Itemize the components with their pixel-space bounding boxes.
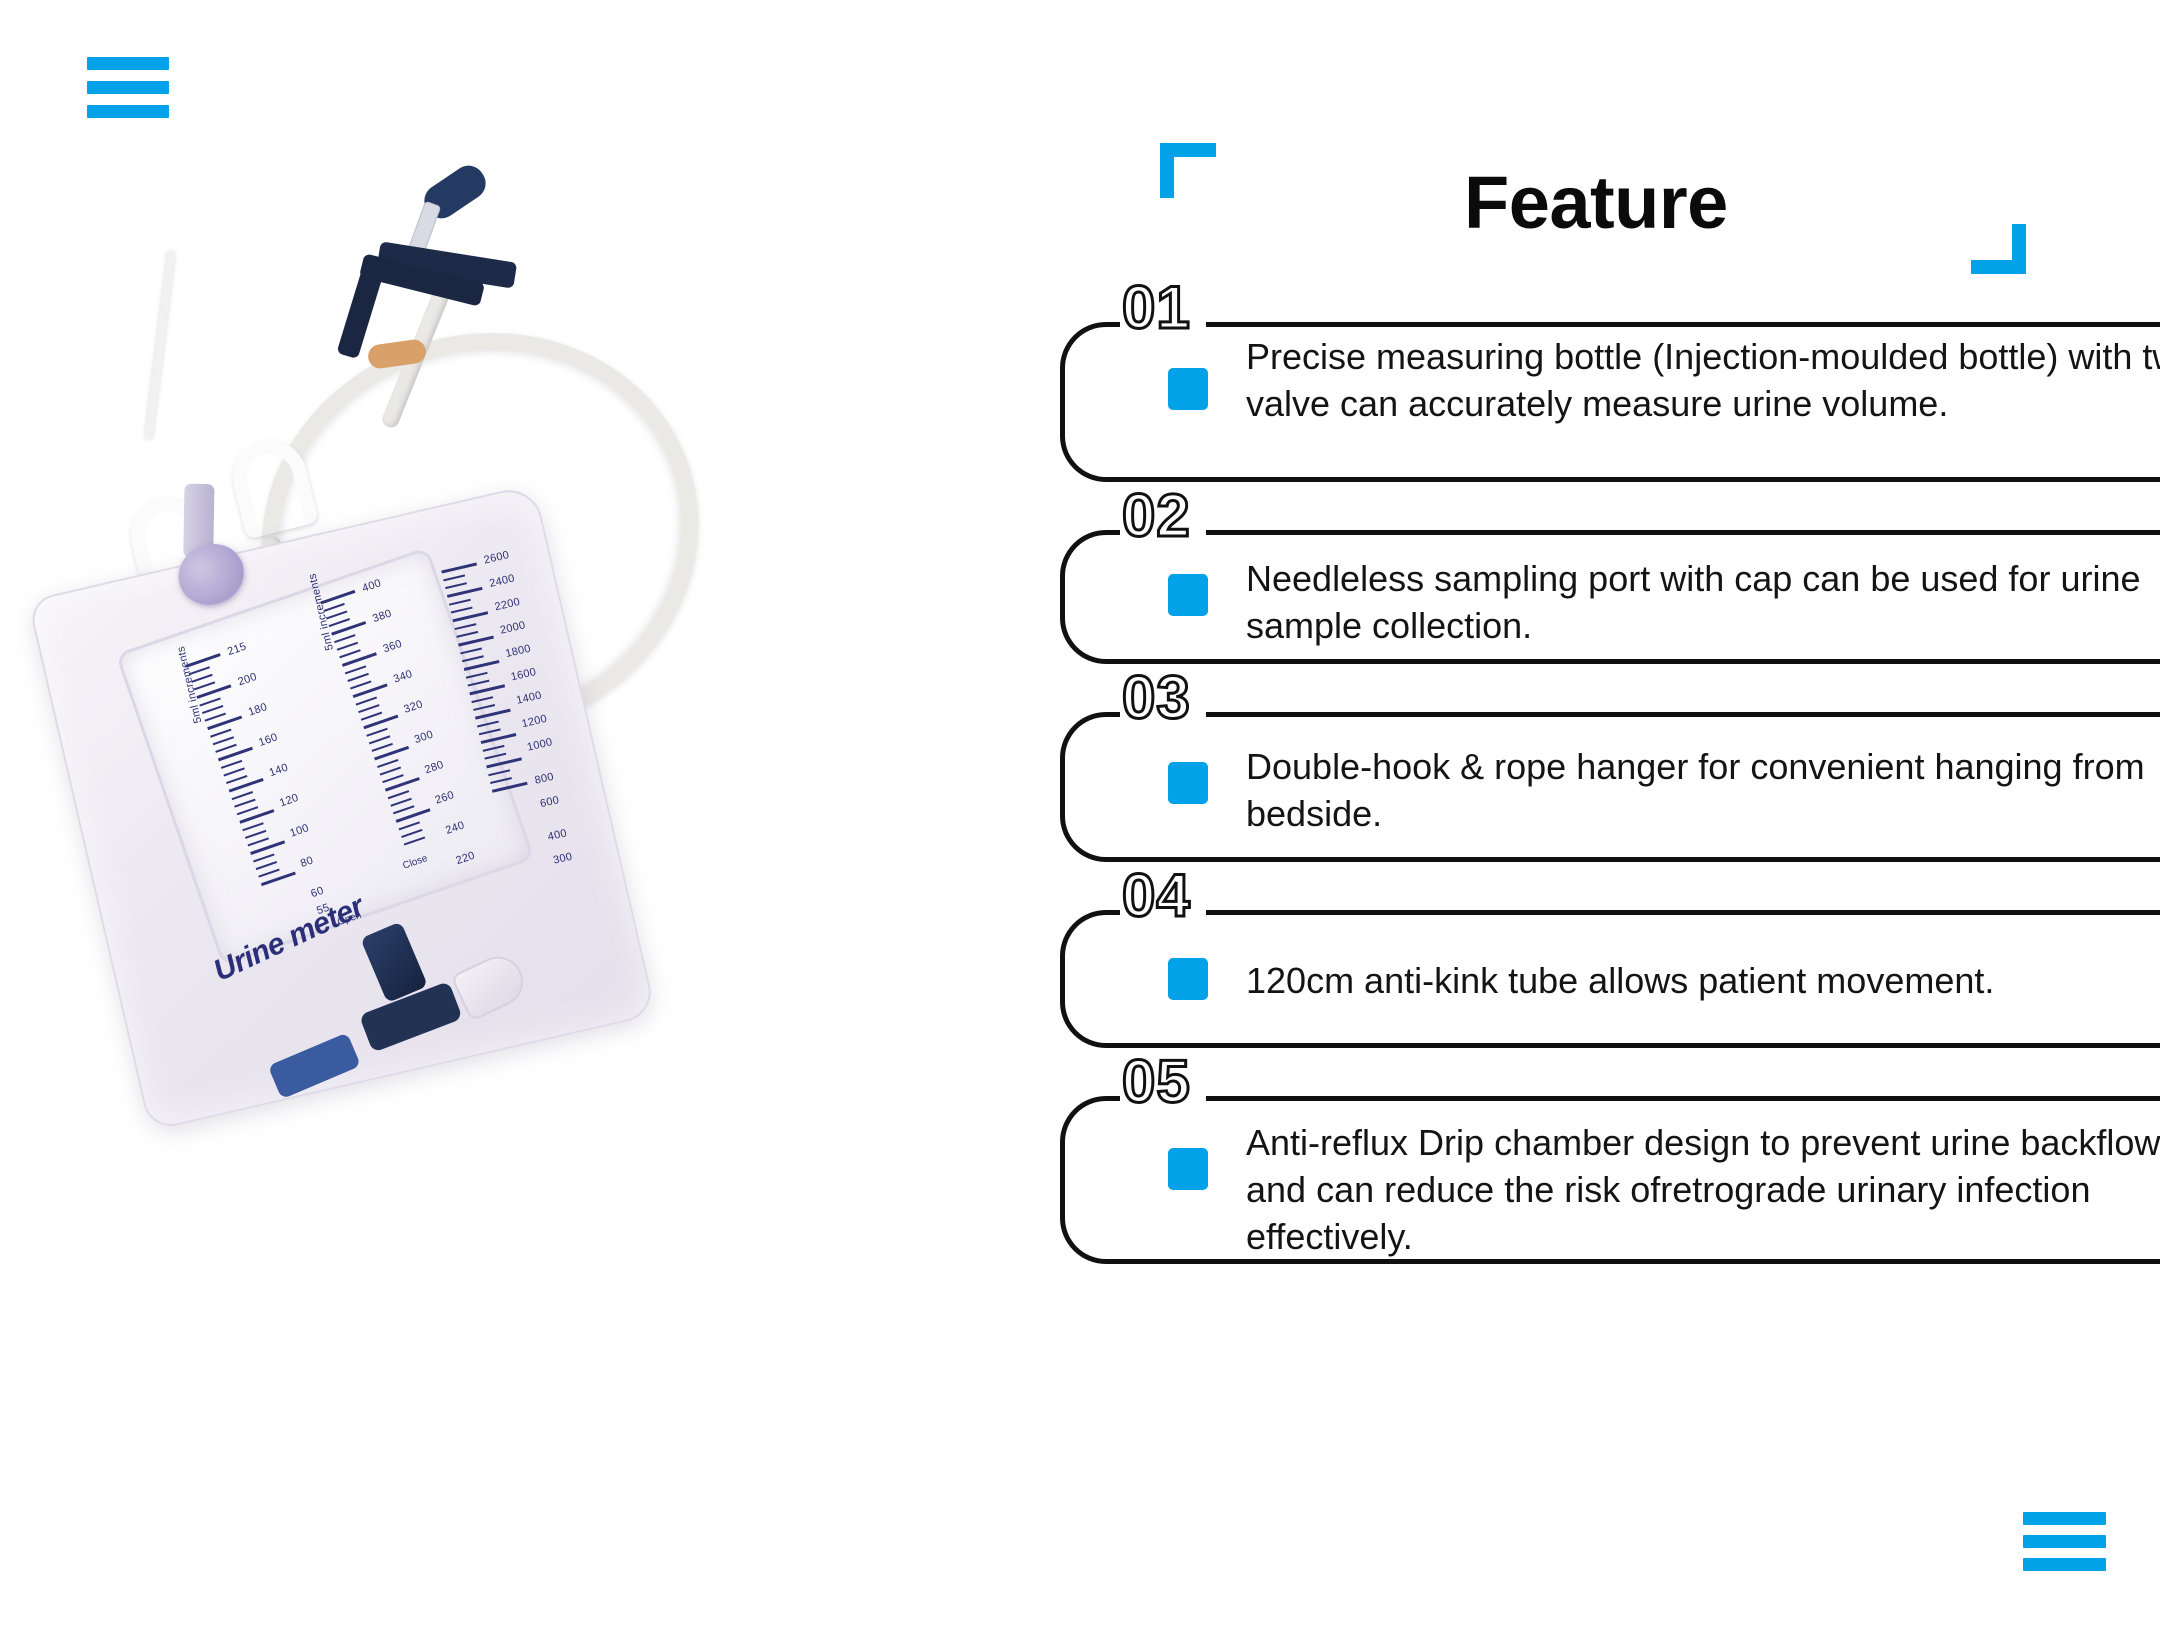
bag-value-800: 800 — [534, 771, 555, 787]
hamburger-bar — [87, 57, 169, 70]
meter-value-280: 280 — [423, 759, 445, 777]
bag-value-600: 600 — [539, 794, 560, 810]
feature-number: 04 — [1122, 866, 1191, 926]
feature-text: Anti-reflux Drip chamber design to preve… — [1246, 1120, 2160, 1260]
feature-number: 05 — [1122, 1052, 1191, 1112]
meter-ticks — [320, 590, 438, 846]
hamburger-bar — [2023, 1512, 2106, 1525]
bag-value-2400: 2400 — [488, 572, 516, 589]
bag-value-2000: 2000 — [499, 619, 527, 636]
feature-bullet — [1168, 574, 1208, 616]
feature-bullet — [1168, 368, 1208, 410]
chamber-value-80: 80 — [299, 854, 315, 870]
feature-text: Precise measuring bottle (Injection-moul… — [1246, 334, 2160, 428]
chamber-value-60: 60 — [309, 885, 325, 901]
feature-text: Needleless sampling port with cap can be… — [1246, 556, 2160, 650]
meter-value-320: 320 — [402, 698, 424, 716]
feature-bullet — [1168, 1148, 1208, 1190]
bag-value-1400: 1400 — [515, 689, 543, 706]
drain-spout — [450, 948, 531, 1021]
corner-bracket-icon-top-left — [1160, 143, 1216, 198]
twist-valve-knob — [360, 921, 428, 1003]
feature-bullet — [1168, 958, 1208, 1000]
hamburger-bar — [2023, 1558, 2106, 1571]
meter-value-260: 260 — [434, 789, 456, 807]
corner-bracket-icon-bottom-right — [1971, 224, 2026, 274]
meter-value-400: 400 — [361, 577, 383, 595]
meter-value-360: 360 — [382, 638, 404, 656]
bag-value-1800: 1800 — [504, 643, 532, 660]
chamber-value-180: 180 — [247, 701, 269, 719]
meter-value-340: 340 — [392, 668, 414, 686]
bag-value-300: 300 — [552, 851, 573, 867]
bag-value-1600: 1600 — [510, 666, 538, 683]
feature-bullet — [1168, 762, 1208, 804]
feature-number: 01 — [1122, 278, 1191, 338]
chamber-value-200: 200 — [236, 671, 258, 689]
meter-value-380: 380 — [371, 607, 393, 625]
hook-icon-first — [225, 432, 319, 539]
feature-number: 02 — [1122, 486, 1191, 546]
feature-item-05[interactable]: 05 Anti-reflux Drip chamber design to pr… — [1060, 1096, 2160, 1288]
valve-close-label: Close — [401, 853, 429, 872]
chamber-value-120: 120 — [278, 792, 300, 810]
chamber-value-215: 215 — [226, 641, 248, 659]
meter-value-240: 240 — [444, 819, 466, 837]
hamburger-bar — [2023, 1535, 2106, 1548]
feature-text: 120cm anti-kink tube allows patient move… — [1246, 958, 2160, 1005]
bag-value-1200: 1200 — [521, 713, 549, 730]
feature-text: Double-hook & rope hanger for convenient… — [1246, 744, 2160, 838]
chamber-value-100: 100 — [288, 822, 310, 840]
chamber-value-160: 160 — [257, 731, 279, 749]
hamburger-bar — [87, 105, 169, 118]
bag-value-400: 400 — [547, 827, 568, 843]
feature-item-03[interactable]: 03 Double-hook & rope hanger for conveni… — [1060, 712, 2160, 886]
product-image: 5ml increments 215 200 180 160 140 120 1… — [60, 140, 940, 1140]
bag-value-2600: 2600 — [483, 549, 511, 566]
rope-hanger — [144, 250, 175, 440]
bag-value-2200: 2200 — [494, 596, 522, 613]
hamburger-bar — [87, 81, 169, 94]
bag-value-1000: 1000 — [526, 736, 554, 753]
feature-item-04[interactable]: 04 120cm anti-kink tube allows patient m… — [1060, 910, 2160, 1072]
feature-number: 03 — [1122, 668, 1191, 728]
feature-item-01[interactable]: 01 Precise measuring bottle (Injection-m… — [1060, 322, 2160, 506]
meter-value-300: 300 — [413, 728, 435, 746]
infographic-page: Feature 5ml increments — [0, 0, 2160, 1636]
hamburger-icon-bottom-right — [2023, 1512, 2106, 1571]
bracket-vertical — [2012, 224, 2026, 274]
page-title: Feature — [1464, 160, 1728, 245]
meter-value-220: 220 — [454, 850, 476, 868]
feature-list: 01 Precise measuring bottle (Injection-m… — [1060, 322, 2160, 1312]
feature-item-02[interactable]: 02 Needleless sampling port with cap can… — [1060, 530, 2160, 688]
bracket-vertical — [1160, 143, 1174, 198]
chamber-value-140: 140 — [268, 762, 290, 780]
hamburger-icon-top-left — [87, 57, 169, 118]
outlet-clip — [268, 1032, 361, 1099]
